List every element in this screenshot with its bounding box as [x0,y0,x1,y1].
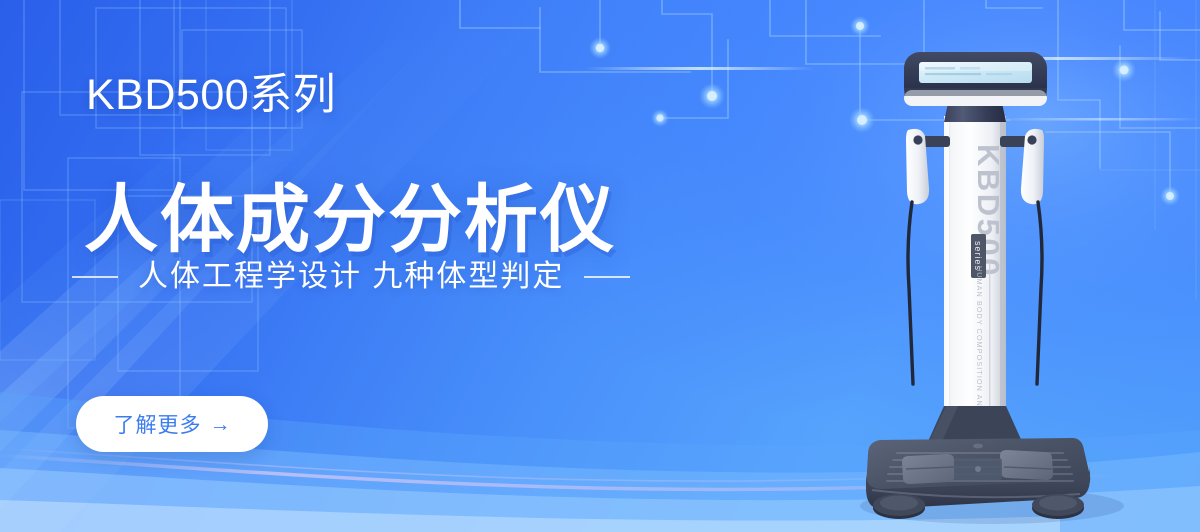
divider-dash-right [584,276,630,278]
device-base-platform [866,406,1090,509]
product-series-label: KBD500系列 [86,74,336,117]
product-image: KBD500 series HUMAN BODY COMPOSITION ANA… [826,38,1156,532]
arrow-right-icon: → [210,414,231,435]
learn-more-label: 了解更多 [114,409,202,439]
learn-more-button[interactable]: 了解更多 → [76,396,268,452]
page-title: 人体成分分析仪 [84,183,616,257]
electrode-cable-left [908,202,913,384]
subtitle-text: 人体工程学设计 九种体型判定 [138,262,564,292]
subtitle-row: 人体工程学设计 九种体型判定 [72,262,630,292]
electrode-cable-right [1037,202,1042,384]
foot-electrode-right [1000,450,1053,480]
device-illustration: KBD500 series HUMAN BODY COMPOSITION ANA… [826,38,1156,532]
device-display-head [904,52,1047,106]
divider-dash-left [72,276,118,278]
device-hand-electrode-left [906,129,950,384]
hero-banner: KBD500系列 人体成分分析仪 人体工程学设计 九种体型判定 了解更多 → [0,0,1200,532]
hero-content: KBD500系列 人体成分分析仪 人体工程学设计 九种体型判定 了解更多 → [0,0,700,532]
